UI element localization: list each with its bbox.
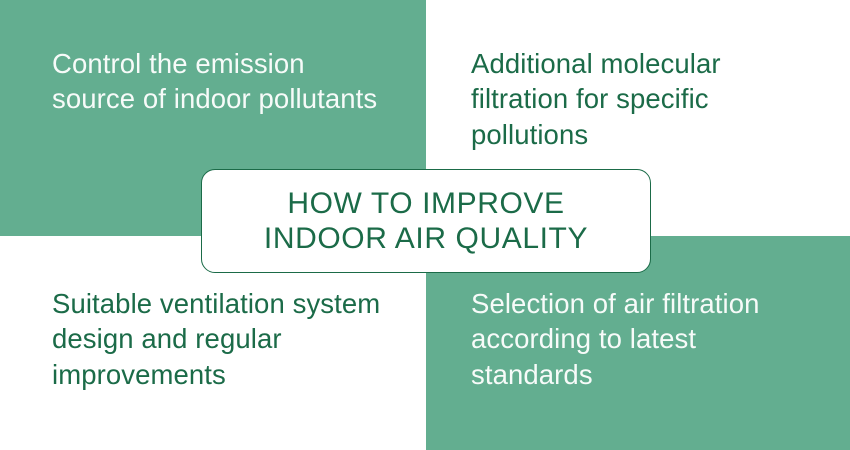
quadrant-bottom-left-text: Suitable ventilation system design and r… [52, 286, 397, 392]
quadrant-bottom-right-text: Selection of air filtration according to… [471, 286, 816, 392]
infographic-canvas: Control the emission source of indoor po… [0, 0, 850, 450]
center-title-badge: HOW TO IMPROVE INDOOR AIR QUALITY [201, 169, 651, 273]
title-line-1: HOW TO IMPROVE [287, 186, 564, 221]
quadrant-top-left-text: Control the emission source of indoor po… [52, 46, 382, 117]
title-line-2: INDOOR AIR QUALITY [264, 221, 588, 256]
quadrant-top-right-text: Additional molecular filtration for spec… [471, 46, 811, 152]
